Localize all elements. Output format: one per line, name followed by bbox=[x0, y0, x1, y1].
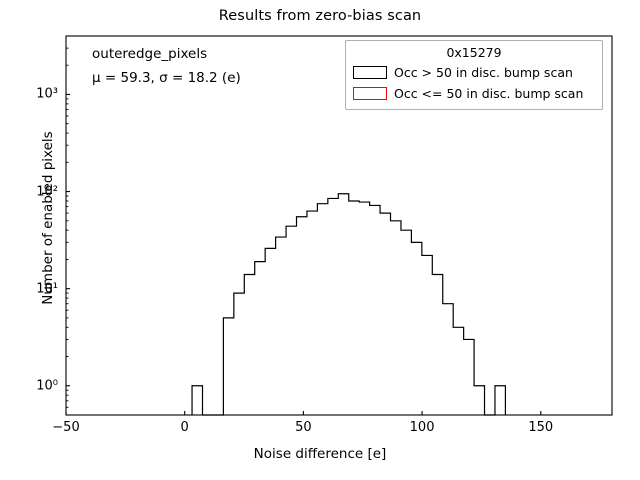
legend-label-primary: Occ > 50 in disc. bump scan bbox=[394, 65, 573, 80]
legend-swatch-secondary bbox=[353, 87, 387, 100]
y-tick-label: 10¹ bbox=[36, 281, 58, 296]
y-axis-label: Number of enabled pixels bbox=[40, 58, 56, 378]
legend-entry-primary: Occ > 50 in disc. bump scan bbox=[353, 62, 595, 83]
x-axis-label: Noise difference [e] bbox=[0, 446, 640, 462]
legend-label-secondary: Occ <= 50 in disc. bump scan bbox=[394, 86, 583, 101]
legend: 0x15279 Occ > 50 in disc. bump scan Occ … bbox=[345, 40, 603, 110]
x-tick-label: 150 bbox=[528, 420, 553, 435]
legend-swatch-primary bbox=[353, 66, 387, 79]
x-tick-label: 50 bbox=[295, 420, 312, 435]
legend-entry-secondary: Occ <= 50 in disc. bump scan bbox=[353, 83, 595, 104]
x-tick-label: 0 bbox=[181, 420, 189, 435]
annotation-statistics: μ = 59.3, σ = 18.2 (e) bbox=[92, 70, 241, 86]
legend-title: 0x15279 bbox=[353, 45, 595, 62]
x-tick-label: 100 bbox=[410, 420, 435, 435]
y-tick-label: 10² bbox=[36, 184, 58, 199]
annotation-dataset-name: outeredge_pixels bbox=[92, 46, 207, 62]
figure-canvas: Results from zero-bias scan Noise differ… bbox=[0, 0, 640, 480]
y-tick-label: 10³ bbox=[36, 87, 58, 102]
y-tick-label: 10⁰ bbox=[36, 378, 58, 393]
x-tick-label: −50 bbox=[52, 420, 79, 435]
